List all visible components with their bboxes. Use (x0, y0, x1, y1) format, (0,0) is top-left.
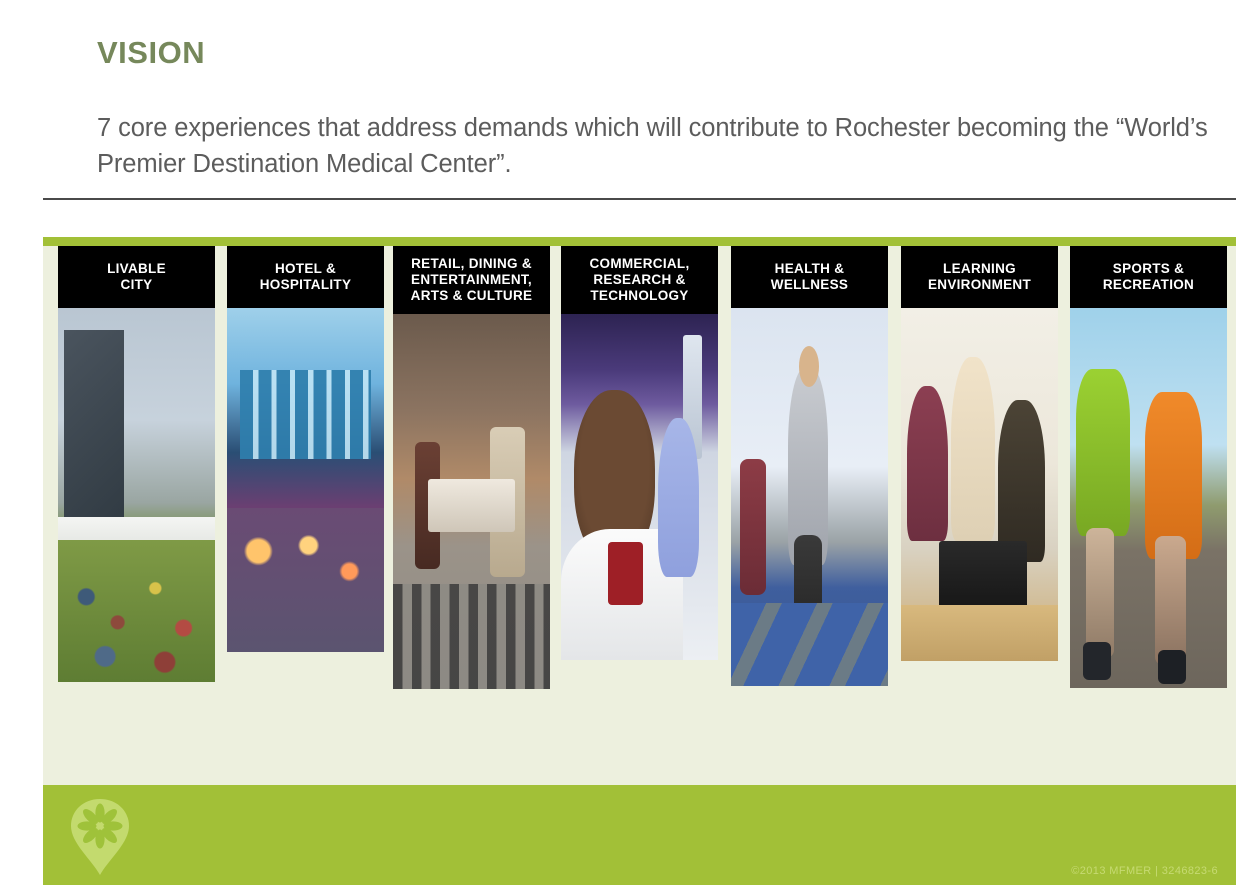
experience-card-health-wellness[interactable]: HEALTH & WELLNESS (731, 246, 888, 686)
livable-city-photo (58, 308, 215, 682)
experience-card-learning-environment[interactable]: LEARNING ENVIRONMENT (901, 246, 1058, 661)
card-label-line1: SPORTS & (1113, 261, 1184, 276)
slide-footer: ©2013 MFMER | 3246823-6 (43, 785, 1236, 885)
card-label-line2: RESEARCH & (593, 272, 685, 287)
sports-recreation-photo (1070, 308, 1227, 688)
card-header-commercial-research: COMMERCIAL, RESEARCH & TECHNOLOGY (561, 246, 718, 314)
header-divider (43, 198, 1236, 200)
card-header-hotel-hospitality: HOTEL & HOSPITALITY (227, 246, 384, 308)
card-header-sports-recreation: SPORTS & RECREATION (1070, 246, 1227, 308)
card-label-line2: WELLNESS (771, 277, 848, 292)
card-label-line2: CITY (121, 277, 153, 292)
card-header-learning-environment: LEARNING ENVIRONMENT (901, 246, 1058, 308)
card-header-livable-city: LIVABLE CITY (58, 246, 215, 308)
page-title: VISION (97, 36, 205, 70)
commercial-research-photo (561, 314, 718, 660)
experience-card-hotel-hospitality[interactable]: HOTEL & HOSPITALITY (227, 246, 384, 652)
experience-card-commercial-research[interactable]: COMMERCIAL, RESEARCH & TECHNOLOGY (561, 246, 718, 660)
experience-card-retail-dining[interactable]: RETAIL, DINING & ENTERTAINMENT, ARTS & C… (393, 246, 550, 689)
card-label-line1: LIVABLE (107, 261, 166, 276)
card-header-health-wellness: HEALTH & WELLNESS (731, 246, 888, 308)
card-header-retail-dining: RETAIL, DINING & ENTERTAINMENT, ARTS & C… (393, 246, 550, 314)
hotel-hospitality-photo (227, 308, 384, 652)
card-label-line1: HEALTH & (775, 261, 845, 276)
slide: VISION 7 core experiences that address d… (0, 0, 1257, 894)
retail-dining-photo (393, 314, 550, 689)
experience-card-livable-city[interactable]: LIVABLE CITY (58, 246, 215, 682)
card-label-line1: RETAIL, DINING & (411, 256, 532, 271)
learning-environment-photo (901, 308, 1058, 661)
card-label-line3: ARTS & CULTURE (411, 288, 533, 303)
copyright-text: ©2013 MFMER | 3246823-6 (1071, 865, 1218, 877)
mayo-clinic-pin-logo (65, 795, 135, 879)
experience-card-sports-recreation[interactable]: SPORTS & RECREATION (1070, 246, 1227, 688)
health-wellness-photo (731, 308, 888, 686)
card-label-line3: TECHNOLOGY (590, 288, 688, 303)
page-subtitle: 7 core experiences that address demands … (97, 110, 1217, 182)
experience-card-grid: LIVABLE CITY HOTEL & HOSPITALITY (43, 237, 1236, 785)
card-label-line2: HOSPITALITY (260, 277, 352, 292)
card-label-line2: ENVIRONMENT (928, 277, 1031, 292)
card-label-line1: HOTEL & (275, 261, 336, 276)
card-label-line2: ENTERTAINMENT, (411, 272, 532, 287)
card-label-line2: RECREATION (1103, 277, 1194, 292)
card-label-line1: COMMERCIAL, (589, 256, 689, 271)
card-label-line1: LEARNING (943, 261, 1016, 276)
